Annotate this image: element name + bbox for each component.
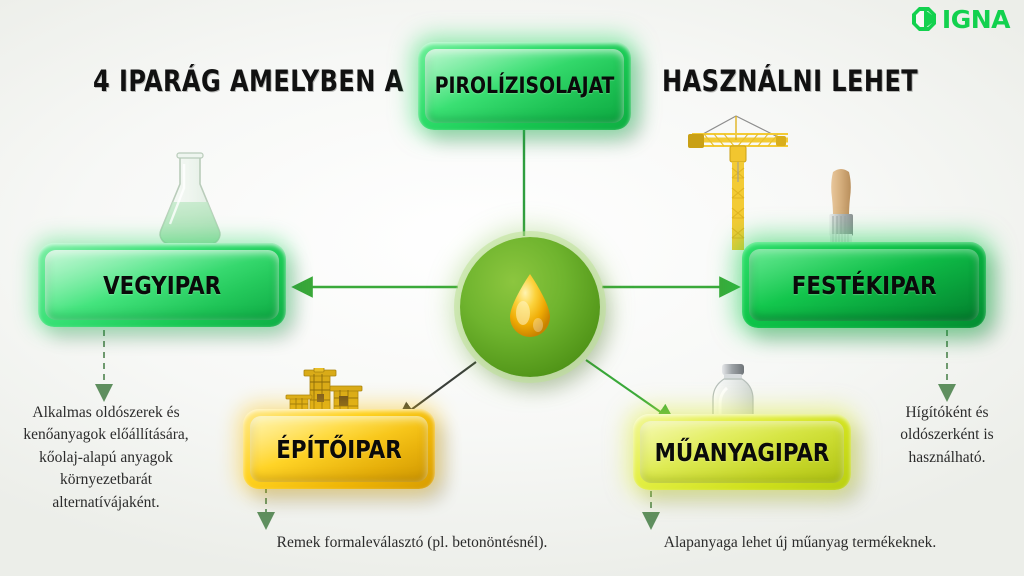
headline-left: 4 IPARÁG AMELYBEN A <box>93 64 404 98</box>
description-festekipar: Hígítóként és oldószerként is használhat… <box>874 402 1020 469</box>
industry-box-epitoipar[interactable]: ÉPÍTŐIPAR <box>243 409 435 489</box>
industry-label-vegyipar: VEGYIPAR <box>103 271 221 300</box>
industry-label-festekipar: FESTÉKIPAR <box>792 271 937 300</box>
industry-label-epitoipar: ÉPÍTŐIPAR <box>276 435 401 464</box>
brand-logo: IGNA <box>911 6 1010 32</box>
infographic-canvas: IGNA 4 IPARÁG AMELYBEN A HASZNÁLNI LEHET <box>0 0 1024 576</box>
construction-crane-icon <box>680 112 800 252</box>
octagon-logo-icon <box>911 6 937 32</box>
description-epitoipar: Remek formaleválasztó (pl. betonöntésnél… <box>252 532 572 554</box>
description-muanyagipar: Alapanyaga lehet új műanyag termékeknek. <box>630 532 970 554</box>
industry-box-vegyipar[interactable]: VEGYIPAR <box>38 243 286 327</box>
brand-name: IGNA <box>942 7 1010 32</box>
headline-right: HASZNÁLNI LEHET <box>662 64 918 98</box>
industry-box-festekipar[interactable]: FESTÉKIPAR <box>742 242 986 328</box>
description-vegyipar: Alkalmas oldószerek és kenőanyagok előál… <box>6 402 206 514</box>
industry-label-muanyagipar: MŰANYAGIPAR <box>655 438 830 467</box>
chemistry-flask-icon <box>150 150 230 250</box>
industry-box-muanyagipar[interactable]: MŰANYAGIPAR <box>633 414 851 490</box>
pyrolysis-oil-label: PIROLÍZISOLAJAT <box>435 74 615 99</box>
oil-drop-icon <box>504 273 556 341</box>
pyrolysis-oil-box[interactable]: PIROLÍZISOLAJAT <box>418 42 631 130</box>
center-hub[interactable] <box>460 237 600 377</box>
